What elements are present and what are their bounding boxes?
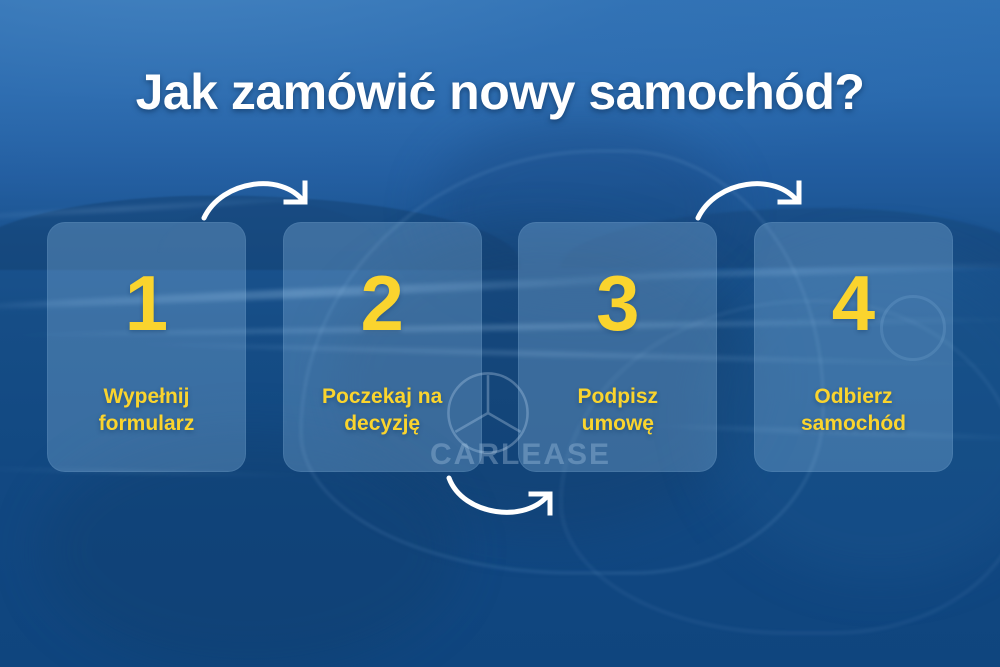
steps-container: 1 Wypełnij formularz 2 Poczekaj na decyz… <box>47 222 953 472</box>
step-label-line2: formularz <box>99 411 195 438</box>
infographic-root: CARLEASE Jak zamówić nowy samochód? 1 Wy… <box>0 0 1000 667</box>
step-label: Podpisz umowę <box>570 384 667 438</box>
step-card-4[interactable]: 4 Odbierz samochód <box>754 222 953 472</box>
step-label-line1: Podpisz <box>578 384 659 411</box>
step-label: Odbierz samochód <box>793 384 914 438</box>
step-label-line1: Poczekaj na <box>322 384 442 411</box>
step-label: Wypełnij formularz <box>91 384 203 438</box>
step-label: Poczekaj na decyzję <box>314 384 450 438</box>
step-number: 1 <box>125 264 168 342</box>
step-number: 4 <box>832 264 875 342</box>
step-card-2[interactable]: 2 Poczekaj na decyzję <box>283 222 482 472</box>
step-label-line1: Wypełnij <box>99 384 195 411</box>
step-label-line2: umowę <box>578 411 659 438</box>
step-label-line2: decyzję <box>322 411 442 438</box>
step-card-1[interactable]: 1 Wypełnij formularz <box>47 222 246 472</box>
step-label-line1: Odbierz <box>801 384 906 411</box>
page-title: Jak zamówić nowy samochód? <box>0 63 1000 121</box>
step-number: 3 <box>596 264 639 342</box>
step-label-line2: samochód <box>801 411 906 438</box>
step-card-3[interactable]: 3 Podpisz umowę <box>518 222 717 472</box>
step-number: 2 <box>360 264 403 342</box>
